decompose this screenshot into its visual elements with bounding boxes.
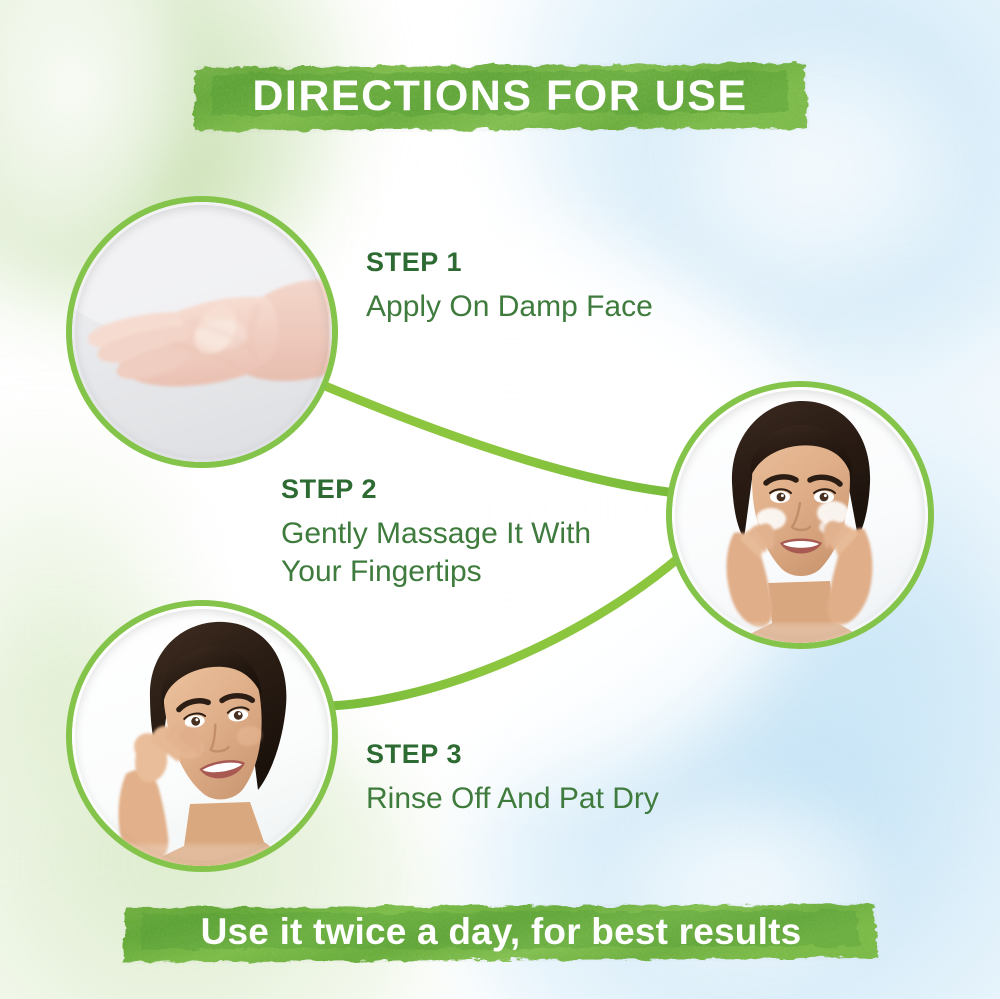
step-2-label: STEP 2	[281, 476, 591, 503]
woman-massaging-face-photo	[672, 387, 928, 643]
step-1-label: STEP 1	[366, 249, 653, 276]
step-3-text: STEP 3 Rinse Off And Pat Dry	[366, 741, 659, 818]
open-palm-photo	[72, 202, 332, 462]
step-1-text: STEP 1 Apply On Damp Face	[366, 249, 653, 326]
step-2-description-line2: Your Fingertips	[281, 553, 591, 591]
step-3-description-line1: Rinse Off And Pat Dry	[366, 780, 659, 818]
step-1-photo-clip	[72, 202, 332, 462]
step-2-image-circle	[666, 381, 934, 649]
poster-title: DIRECTIONS FOR USE	[252, 72, 747, 121]
woman-clean-face-photo	[72, 606, 332, 866]
step-1-image-circle	[66, 196, 338, 468]
step-3-image-circle	[66, 600, 338, 872]
step-3-label: STEP 3	[366, 741, 659, 768]
title-banner: DIRECTIONS FOR USE	[186, 52, 814, 140]
step-2-description-line1: Gently Massage It With	[281, 515, 591, 553]
footer-banner: Use it twice a day, for best results	[118, 896, 884, 968]
step-2-text: STEP 2 Gently Massage It With Your Finge…	[281, 476, 591, 592]
step-1-description-line1: Apply On Damp Face	[366, 288, 653, 326]
directions-for-use-poster: DIRECTIONS FOR USE	[0, 0, 1000, 999]
poster-footer-text: Use it twice a day, for best results	[201, 911, 802, 953]
step-3-photo-clip	[72, 606, 332, 866]
step-2-photo-clip	[672, 387, 928, 643]
